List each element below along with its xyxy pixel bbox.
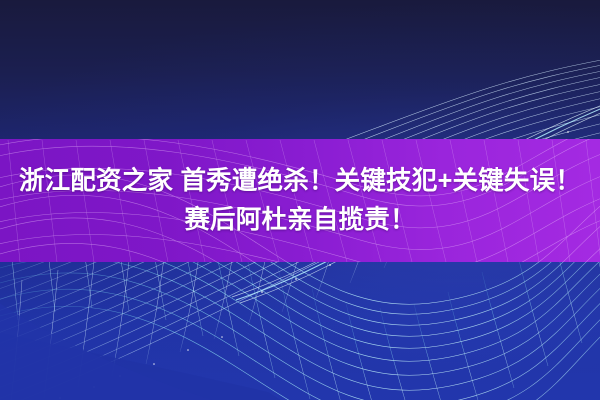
headline-line-1: 浙江配资之家 首秀遭绝杀！关键技犯+关键失误！ (19, 163, 581, 199)
headline-band: 浙江配资之家 首秀遭绝杀！关键技犯+关键失误！ 赛后阿杜亲自揽责！ (0, 139, 600, 262)
headline-line-2: 赛后阿杜亲自揽责！ (184, 202, 415, 238)
headline-text: 浙江配资之家 首秀遭绝杀！关键技犯+关键失误！ 赛后阿杜亲自揽责！ (0, 139, 600, 262)
promo-banner: 浙江配资之家 首秀遭绝杀！关键技犯+关键失误！ 赛后阿杜亲自揽责！ (0, 0, 600, 400)
